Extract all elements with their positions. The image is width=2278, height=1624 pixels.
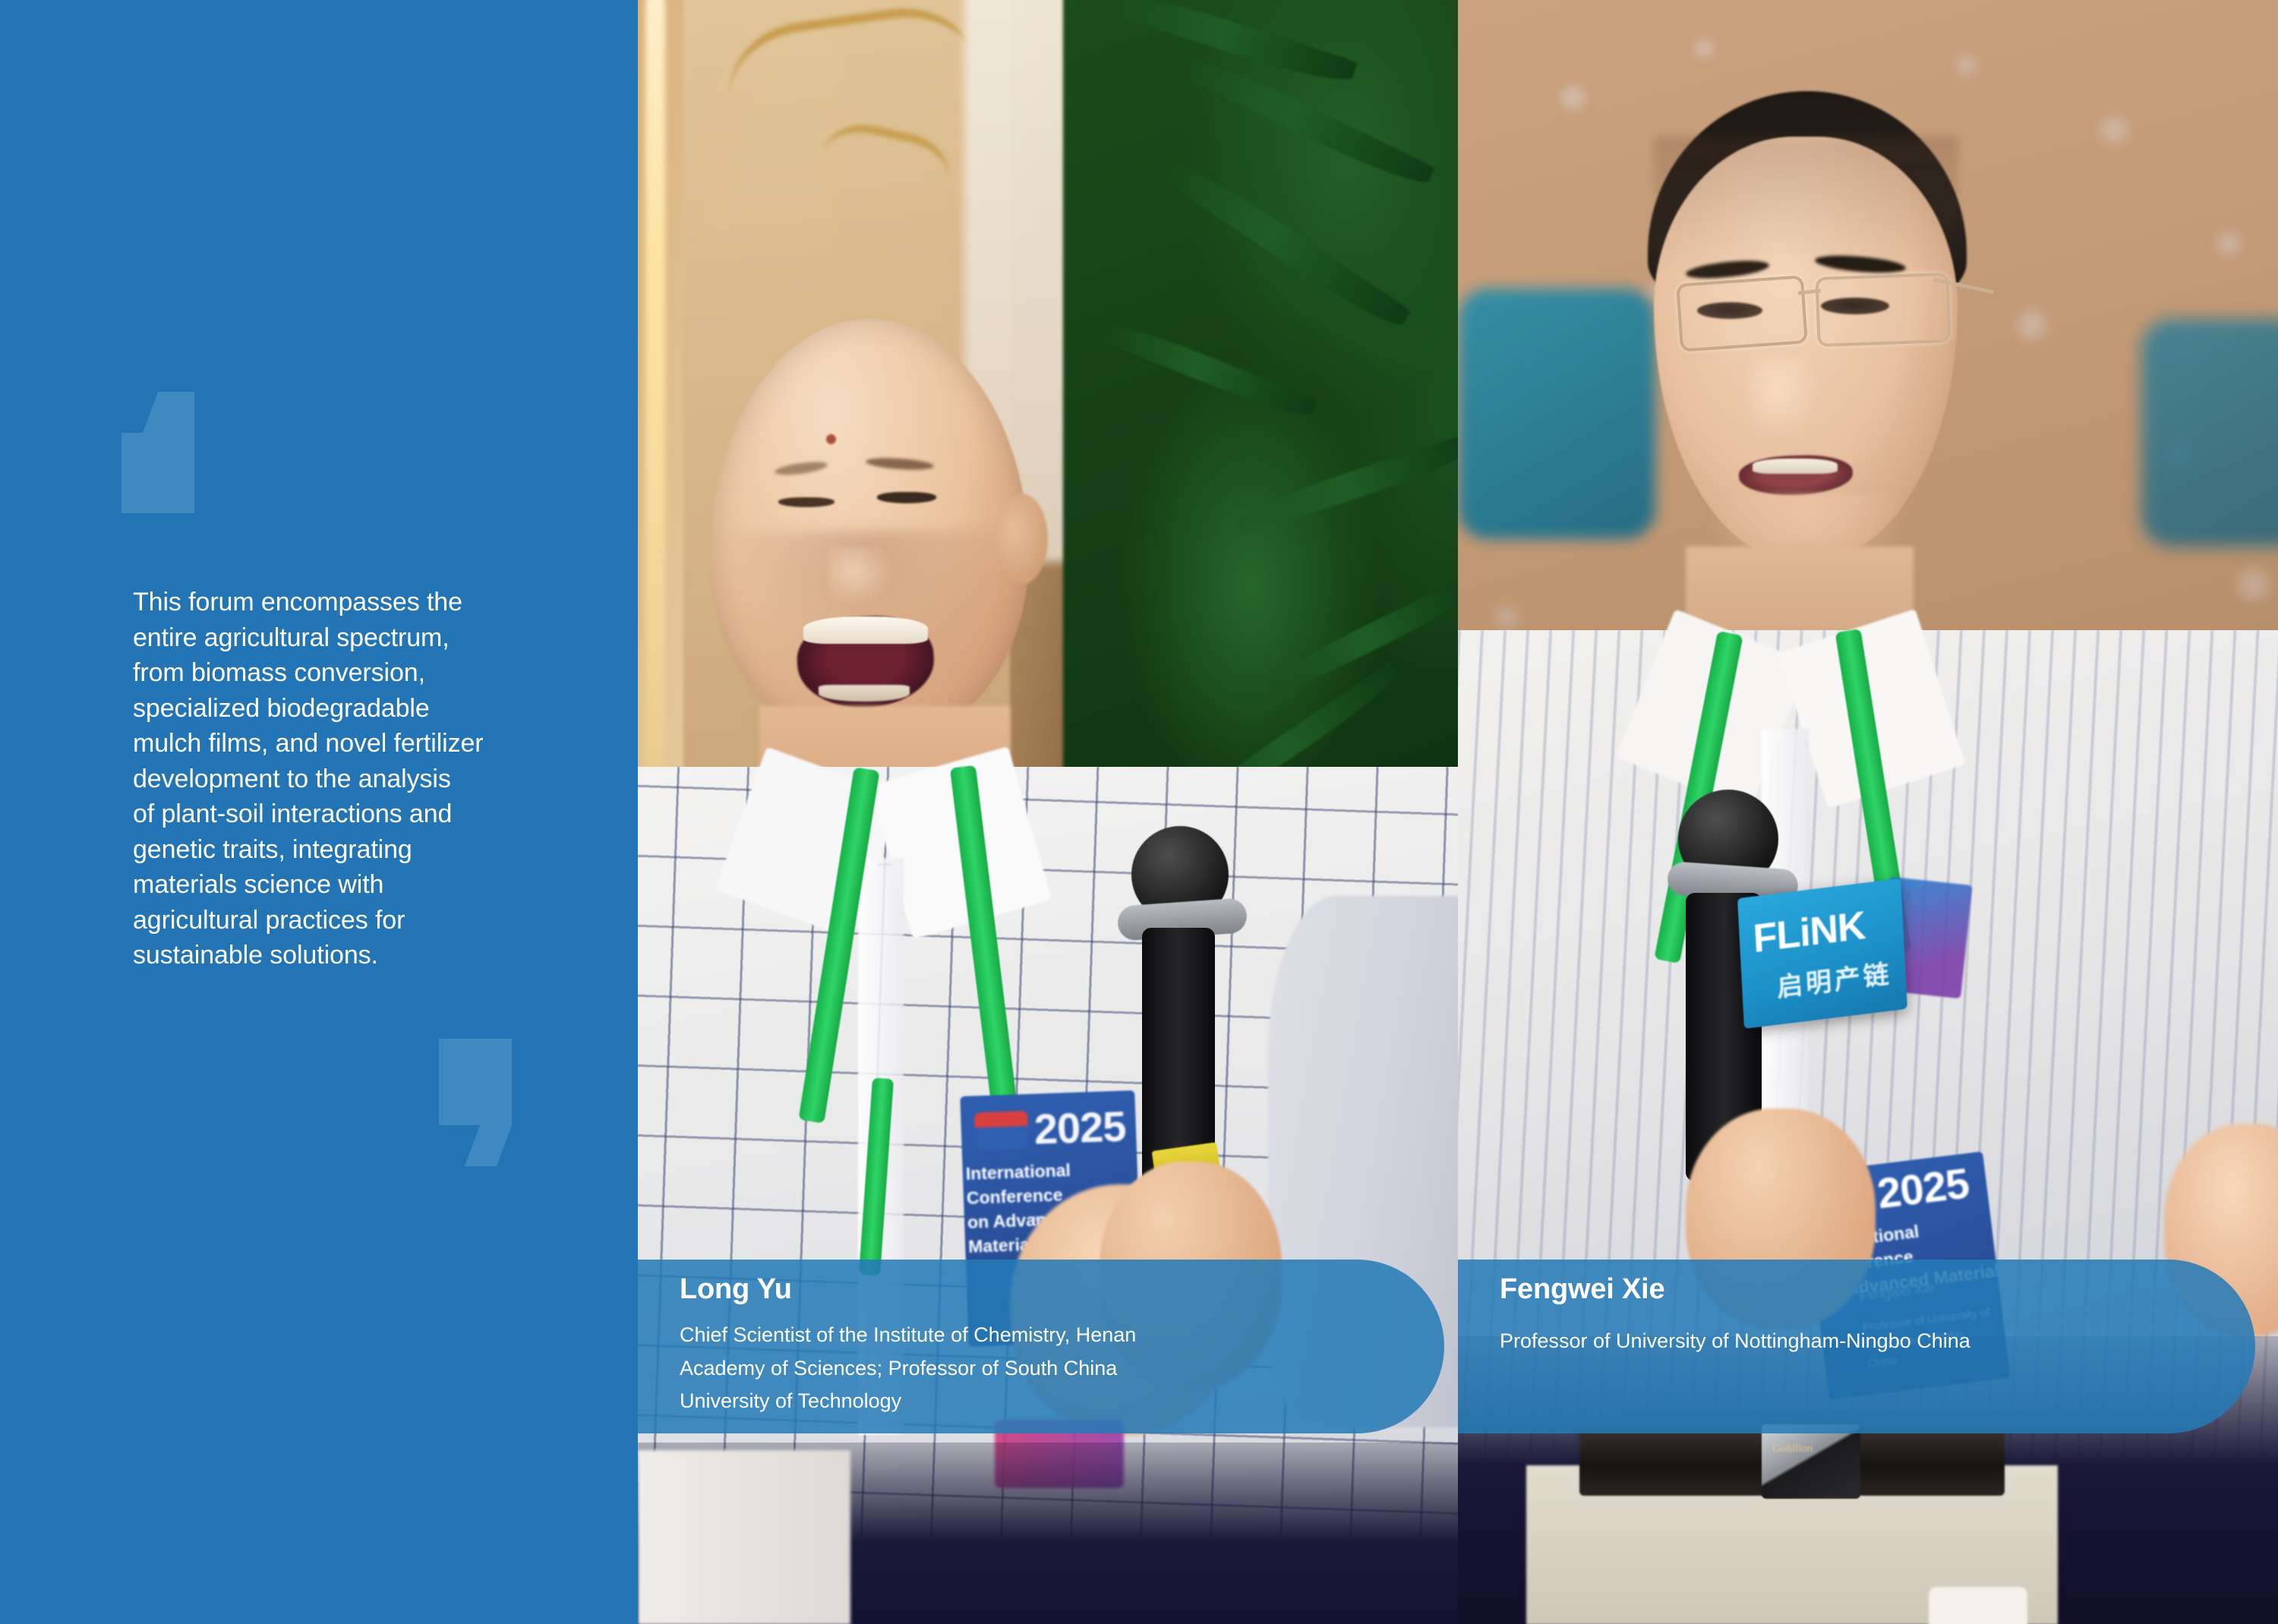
badge-year: 2025 <box>1875 1158 1972 1218</box>
eye-right <box>877 492 936 503</box>
speaker-ear <box>995 494 1048 585</box>
eyeglass-lens-left <box>1676 275 1808 352</box>
foreground-white-object <box>1929 1587 2027 1624</box>
wall-light-strip <box>645 0 665 828</box>
trousers <box>638 1450 850 1624</box>
lower-teeth <box>819 685 910 702</box>
nose <box>828 547 896 607</box>
eyeglasses <box>1667 267 1979 358</box>
upper-teeth <box>1753 459 1838 474</box>
background-teal-shape <box>1458 289 1655 539</box>
belt-buckle: Goldlion <box>1762 1424 1860 1499</box>
nose <box>1746 357 1822 440</box>
quote-text: This forum encompasses the entire agricu… <box>133 585 520 973</box>
eyeglass-lens-right <box>1815 273 1951 347</box>
speaker-caption-card-long-yu: Long Yu Chief Scientist of the Institute… <box>638 1260 1444 1433</box>
eye-left <box>778 497 835 507</box>
upper-teeth <box>803 616 928 644</box>
background-teal-shape <box>2141 319 2278 547</box>
slide-root: This forum encompasses the entire agricu… <box>0 0 2278 1624</box>
microphone-flag: FLiNK 启明产链 <box>1737 878 1907 1029</box>
microphone-flag-brand-en: FLiNK <box>1752 903 1866 962</box>
speaker-name: Fengwei Xie <box>1500 1273 1664 1306</box>
microphone-flag-brand-zh: 启明产链 <box>1776 953 1893 1004</box>
speaker-name: Long Yu <box>680 1273 792 1306</box>
forehead-shading <box>1654 137 1958 273</box>
quote-panel: This forum encompasses the entire agricu… <box>0 0 638 1624</box>
speaker-role: Chief Scientist of the Institute of Chem… <box>680 1319 1363 1418</box>
forehead-mark <box>826 434 836 444</box>
speaker-role: Professor of University of Nottingham-Ni… <box>1500 1325 2183 1358</box>
speaker-caption-card-fengwei-xie: Fengwei Xie Professor of University of N… <box>1458 1260 2255 1433</box>
badge-logo-icon <box>974 1111 1029 1150</box>
badge-year: 2025 <box>1033 1102 1127 1154</box>
belt-buckle-brand: Goldlion <box>1772 1443 1813 1455</box>
